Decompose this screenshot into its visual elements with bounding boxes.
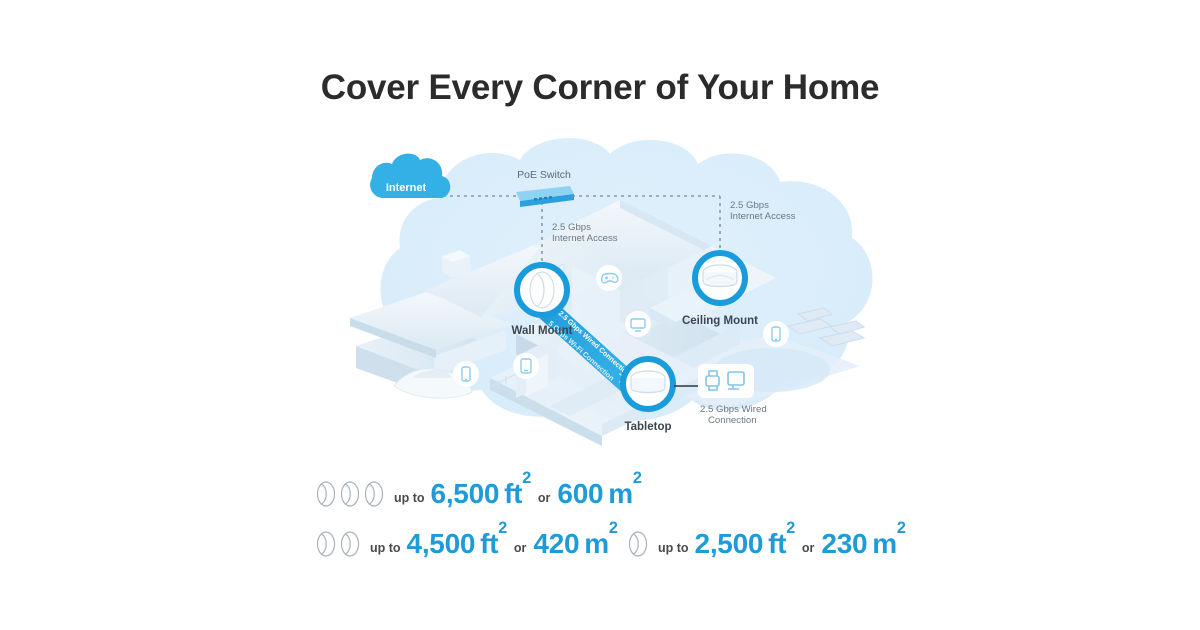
coverage-imperial: 6,500ft2 — [431, 478, 531, 510]
bubble-phone-garage[interactable] — [453, 361, 479, 387]
bubble-tv[interactable] — [625, 311, 651, 337]
coverage-imperial-value: 2,500 — [695, 528, 764, 559]
coverage-imperial-unit: ft — [504, 478, 522, 509]
home-network-coverage-diagram: 2.5 Gbps Wired Connection 5 Gbps Wi-Fi C… — [320, 138, 900, 458]
coverage-metric-value: 420 — [533, 528, 579, 559]
coverage-imperial-value: 6,500 — [431, 478, 500, 509]
bubble-gamepad[interactable] — [596, 265, 622, 291]
bubble-tablet-hall[interactable] — [513, 353, 539, 379]
bubble-phone-outdoor[interactable] — [763, 321, 789, 347]
coverage-prefix: up to — [370, 541, 401, 555]
page-title: Cover Every Corner of Your Home — [0, 68, 1200, 108]
deco-unit-icon — [338, 479, 362, 509]
coverage-or: or — [538, 491, 551, 505]
coverage-metric-value: 230 — [821, 528, 867, 559]
coverage-row-two-pack: up to 4,500ft2 or 420m2 — [314, 528, 618, 560]
coverage-imperial-exp: 2 — [522, 469, 531, 487]
deco-unit-icon — [314, 529, 338, 559]
coverage-metric-value: 600 — [557, 478, 603, 509]
coverage-metric: 600m2 — [557, 478, 641, 510]
coverage-imperial: 2,500ft2 — [695, 528, 795, 560]
callout-ceiling-line1: 2.5 Gbps — [730, 200, 769, 211]
callout-tabletop-wired: 2.5 Gbps Wired Connection — [700, 404, 767, 426]
coverage-imperial: 4,500ft2 — [407, 528, 507, 560]
coverage-imperial-exp: 2 — [786, 519, 795, 537]
coverage-metric-exp: 2 — [897, 519, 906, 537]
internet-cloud-node[interactable]: Internet — [370, 154, 450, 198]
coverage-metric: 230m2 — [821, 528, 905, 560]
coverage-prefix: up to — [658, 541, 689, 555]
coverage-imperial-value: 4,500 — [407, 528, 476, 559]
coverage-or: or — [514, 541, 527, 555]
coverage-prefix: up to — [394, 491, 425, 505]
callout-wall-line2: Internet Access — [552, 233, 618, 244]
coverage-imperial-unit: ft — [768, 528, 786, 559]
coverage-metric-unit: m — [584, 528, 609, 559]
deco-unit-icon — [626, 529, 650, 559]
node-ceiling-mount-label: Ceiling Mount — [682, 315, 758, 327]
callout-ceiling-line2: Internet Access — [730, 211, 796, 222]
node-tabletop[interactable]: Tabletop — [623, 359, 673, 433]
coverage-metric-unit: m — [872, 528, 897, 559]
node-wall-mount[interactable]: Wall Mount — [512, 265, 573, 337]
coverage-row-one-pack: up to 2,500ft2 or 230m2 — [626, 528, 906, 560]
coverage-metric-exp: 2 — [633, 469, 642, 487]
deco-unit-icon — [362, 479, 386, 509]
node-wall-mount-label: Wall Mount — [512, 325, 573, 337]
callout-wall-line1: 2.5 Gbps — [552, 222, 591, 233]
callout-tabletop-line2: Connection — [708, 415, 757, 426]
deco-unit-icons-2 — [314, 529, 362, 559]
coverage-metric-unit: m — [608, 478, 633, 509]
coverage-imperial-exp: 2 — [498, 519, 507, 537]
coverage-metric: 420m2 — [533, 528, 617, 560]
internet-label: Internet — [386, 182, 427, 194]
node-tabletop-label: Tabletop — [624, 421, 671, 433]
deco-unit-icon — [338, 529, 362, 559]
deco-unit-icon — [314, 479, 338, 509]
coverage-row-three-pack: up to 6,500ft2 or 600m2 — [314, 478, 642, 510]
coverage-stats: up to 6,500ft2 or 600m2 up to 4,500ft2 o… — [0, 478, 1200, 588]
coverage-imperial-unit: ft — [480, 528, 498, 559]
coverage-metric-exp: 2 — [609, 519, 618, 537]
deco-unit-icons-3 — [314, 479, 386, 509]
deco-unit-icons-1 — [626, 529, 650, 559]
poe-switch-label: PoE Switch — [517, 169, 571, 181]
coverage-or: or — [802, 541, 815, 555]
callout-tabletop-line1: 2.5 Gbps Wired — [700, 404, 767, 415]
